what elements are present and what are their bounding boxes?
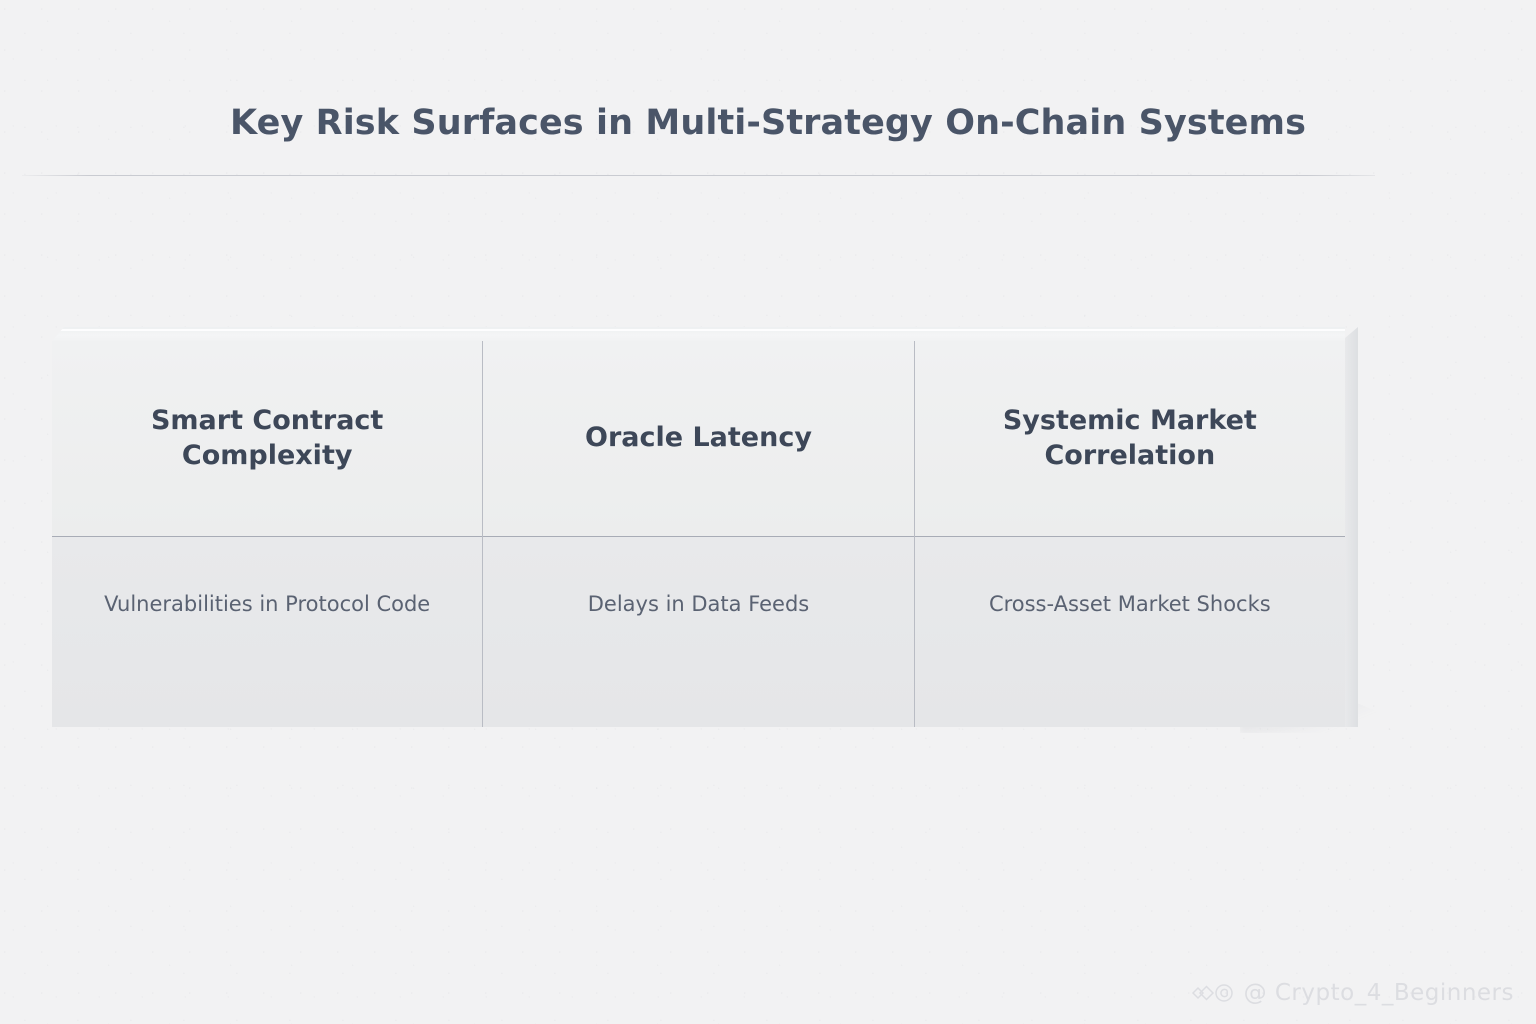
risk-panel-systemic-market-correlation[interactable]: Systemic Market Correlation Cross-Asset … — [914, 341, 1345, 727]
watermark-handle: @ Crypto_4_Beginners — [1244, 980, 1514, 1006]
block-right-face — [1345, 327, 1358, 727]
panel-title: Smart Contract Complexity — [78, 404, 456, 473]
panel-body: Delays in Data Feeds — [483, 537, 913, 727]
panel-title: Systemic Market Correlation — [941, 404, 1319, 473]
panel-description: Cross-Asset Market Shocks — [989, 590, 1271, 619]
page-title: Key Risk Surfaces in Multi-Strategy On-C… — [0, 103, 1536, 143]
block-top-face — [52, 327, 1345, 341]
panel-body: Cross-Asset Market Shocks — [915, 537, 1345, 727]
risk-panel-smart-contract-complexity[interactable]: Smart Contract Complexity Vulnerabilitie… — [52, 341, 482, 727]
diamond-logo-icon — [1191, 982, 1235, 1004]
panel-description: Vulnerabilities in Protocol Code — [104, 590, 430, 619]
block-top-highlight — [52, 329, 1345, 331]
header-divider — [22, 175, 1375, 176]
block-front-face: Smart Contract Complexity Vulnerabilitie… — [52, 341, 1345, 727]
panel-header: Systemic Market Correlation — [915, 341, 1345, 537]
panel-description: Delays in Data Feeds — [588, 590, 810, 619]
panel-title: Oracle Latency — [585, 421, 812, 456]
panel-body: Vulnerabilities in Protocol Code — [52, 537, 482, 727]
risk-surface-block: Smart Contract Complexity Vulnerabilitie… — [52, 338, 1345, 728]
header: Key Risk Surfaces in Multi-Strategy On-C… — [0, 0, 1536, 176]
panel-header: Oracle Latency — [483, 341, 913, 537]
watermark: @ Crypto_4_Beginners — [1191, 980, 1514, 1006]
panel-header: Smart Contract Complexity — [52, 341, 482, 537]
risk-panel-oracle-latency[interactable]: Oracle Latency Delays in Data Feeds — [482, 341, 913, 727]
